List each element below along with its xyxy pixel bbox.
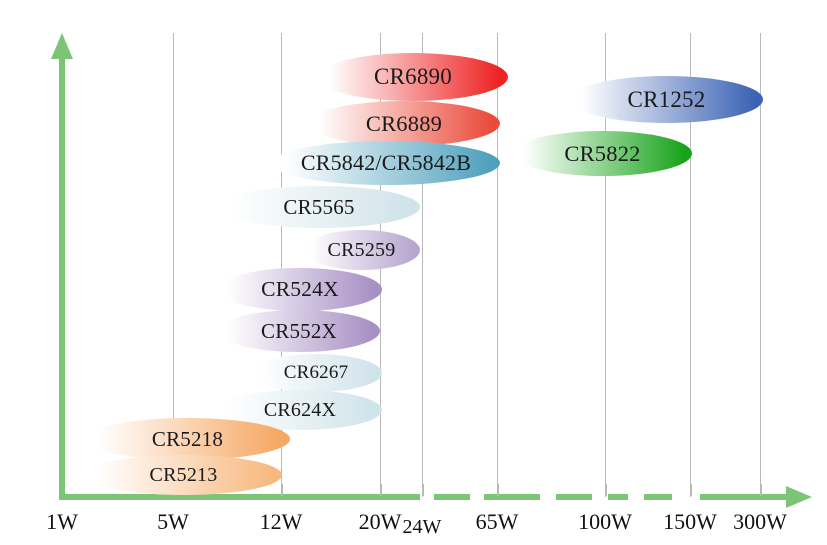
x-tick-label-5w: 5W bbox=[157, 509, 189, 535]
series-ellipse-cr6890: CR6890 bbox=[318, 53, 508, 101]
series-label: CR5565 bbox=[218, 186, 420, 228]
x-tick-label-300w: 300W bbox=[733, 509, 787, 535]
x-tick-label-65w: 65W bbox=[476, 509, 519, 535]
series-label: CR5218 bbox=[85, 418, 290, 460]
tick-24w bbox=[422, 484, 424, 496]
x-tick-label-12w: 12W bbox=[260, 509, 303, 535]
series-ellipse-cr5565: CR5565 bbox=[218, 186, 420, 228]
series-label: CR5842/CR5842B bbox=[272, 141, 500, 185]
series-ellipse-cr5259: CR5259 bbox=[303, 230, 420, 270]
tick-65w bbox=[497, 484, 499, 496]
series-ellipse-cr524x: CR524X bbox=[218, 268, 382, 311]
series-label: CR5259 bbox=[303, 230, 420, 270]
series-ellipse-cr5822: CR5822 bbox=[513, 131, 692, 176]
product-power-range-chart: CR6890CR1252CR6889CR5822CR5842/CR5842BCR… bbox=[0, 0, 827, 545]
y-axis-line bbox=[59, 57, 65, 500]
x-axis-dash-1 bbox=[434, 494, 470, 500]
x-tick-label-20w: 20W bbox=[359, 509, 402, 535]
series-ellipse-cr5842-cr5842b: CR5842/CR5842B bbox=[272, 141, 500, 185]
series-label: CR6267 bbox=[250, 354, 382, 392]
y-axis-arrow-icon bbox=[51, 33, 73, 59]
x-axis-solid-right bbox=[700, 494, 800, 500]
series-label: CR5213 bbox=[85, 455, 282, 495]
x-axis-dash-5 bbox=[644, 494, 672, 500]
x-tick-label-100w: 100W bbox=[578, 509, 632, 535]
series-ellipse-cr5218: CR5218 bbox=[85, 418, 290, 460]
series-label: CR6889 bbox=[308, 101, 500, 146]
x-axis-arrow-icon bbox=[786, 486, 812, 508]
x-tick-label-24w: 24W bbox=[403, 516, 442, 539]
x-axis-dash-4 bbox=[608, 494, 628, 500]
series-label: CR552X bbox=[218, 310, 380, 352]
x-tick-label-150w: 150W bbox=[663, 509, 717, 535]
x-axis-dash-3 bbox=[556, 494, 592, 500]
series-ellipse-cr1252: CR1252 bbox=[570, 76, 763, 123]
series-ellipse-cr6267: CR6267 bbox=[250, 354, 382, 392]
tick-300w bbox=[760, 484, 762, 496]
series-label: CR5822 bbox=[513, 131, 692, 176]
x-axis-dash-2 bbox=[484, 494, 540, 500]
series-label: CR6890 bbox=[318, 53, 508, 101]
tick-20w bbox=[380, 484, 382, 496]
tick-150w bbox=[690, 484, 692, 496]
series-ellipse-cr5213: CR5213 bbox=[85, 455, 282, 495]
tick-100w bbox=[605, 484, 607, 496]
series-label: CR1252 bbox=[570, 76, 763, 123]
x-tick-label-1w: 1W bbox=[46, 509, 78, 535]
series-ellipse-cr6889: CR6889 bbox=[308, 101, 500, 146]
series-ellipse-cr552x: CR552X bbox=[218, 310, 380, 352]
series-label: CR524X bbox=[218, 268, 382, 311]
